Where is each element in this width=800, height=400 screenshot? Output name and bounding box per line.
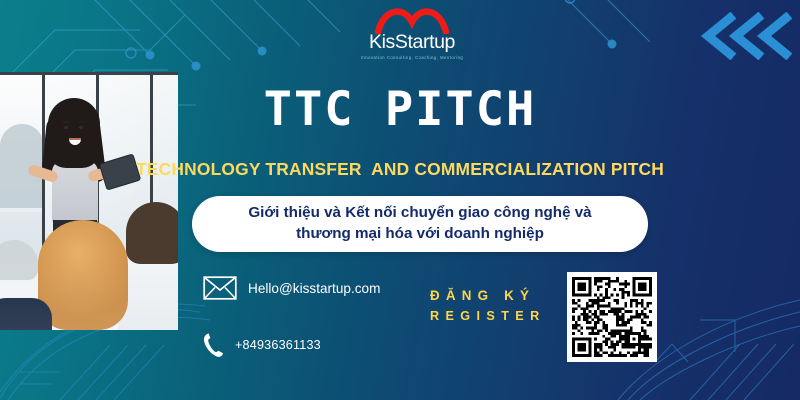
- page-subtitle: TECHNOLOGY TRANSFER AND COMMERCIALIZATIO…: [0, 159, 800, 180]
- description-card: Giới thiệu và Kết nối chuyển giao công n…: [192, 196, 648, 252]
- brand-name: KisStartup: [352, 33, 472, 53]
- phone-number: +84936361133: [235, 338, 321, 352]
- envelope-icon: [203, 276, 237, 300]
- event-banner: KisStartup Innovation Consulting, Coachi…: [0, 0, 800, 400]
- brand-tagline: Innovation Consulting, Coaching, Mentori…: [352, 56, 472, 60]
- qr-code-icon: [572, 277, 652, 357]
- email-contact[interactable]: Hello@kisstartup.com: [203, 276, 380, 300]
- phone-contact[interactable]: +84936361133: [202, 332, 321, 358]
- email-address: Hello@kisstartup.com: [248, 281, 380, 296]
- kisstartup-logo: KisStartup Innovation Consulting, Coachi…: [352, 4, 472, 60]
- description-text: Giới thiệu và Kết nối chuyển giao công n…: [226, 203, 613, 245]
- phone-handset-icon: [202, 332, 224, 358]
- page-title: TTC PITCH: [0, 86, 800, 133]
- triple-chevron-left-icon: [696, 12, 792, 60]
- register-label-vi: ĐĂNG KÝ: [430, 286, 546, 307]
- register-label-en: REGISTER: [430, 307, 546, 327]
- description-line-1: Giới thiệu và Kết nối chuyển giao công n…: [248, 203, 591, 224]
- register-callout: ĐĂNG KÝ REGISTER: [430, 286, 546, 326]
- description-line-2: thương mại hóa với doanh nghiệp: [248, 224, 591, 245]
- qr-code[interactable]: [567, 272, 657, 362]
- double-arch-m-icon: [374, 4, 450, 34]
